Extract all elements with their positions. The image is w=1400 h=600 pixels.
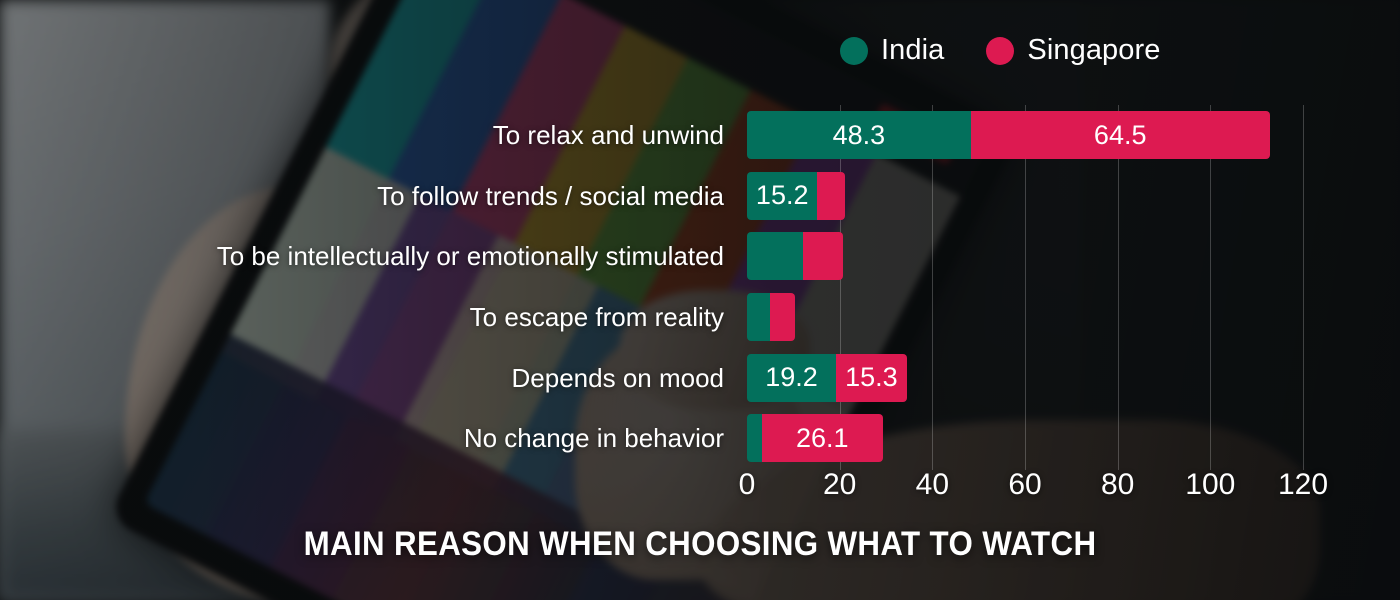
bar-segment-singapore[interactable] <box>803 232 843 280</box>
stacked-bar[interactable]: 19.215.3 <box>747 354 907 402</box>
stacked-bar[interactable] <box>747 232 843 280</box>
bar-row: 15.2 <box>747 166 1303 227</box>
x-tick-label: 0 <box>739 470 756 500</box>
legend-label-singapore: Singapore <box>1027 36 1160 65</box>
bar-segment-india[interactable] <box>747 232 803 280</box>
legend-item-singapore[interactable]: Singapore <box>986 36 1160 65</box>
category-label: No change in behavior <box>0 408 724 469</box>
bar-value-label: 64.5 <box>1094 122 1147 149</box>
bar-segment-india[interactable]: 48.3 <box>747 111 971 159</box>
category-label: Depends on mood <box>0 348 724 409</box>
stacked-bar[interactable]: 48.364.5 <box>747 111 1270 159</box>
stacked-bar[interactable]: 26.1 <box>747 414 883 462</box>
legend-swatch-singapore-icon <box>986 37 1014 65</box>
x-tick-label: 80 <box>1101 470 1134 500</box>
bar-row: 19.215.3 <box>747 348 1303 409</box>
bar-segment-singapore[interactable]: 15.3 <box>836 354 907 402</box>
bar-row <box>747 287 1303 348</box>
bar-segment-singapore[interactable] <box>770 293 795 341</box>
category-label: To relax and unwind <box>0 105 724 166</box>
legend-label-india: India <box>881 36 944 65</box>
category-axis-labels: To relax and unwindTo follow trends / so… <box>0 105 724 469</box>
legend-item-india[interactable]: India <box>840 36 944 65</box>
stacked-bar[interactable]: 15.2 <box>747 172 845 220</box>
bar-segment-india[interactable] <box>747 414 762 462</box>
bar-value-label: 19.2 <box>765 364 818 391</box>
stacked-bar[interactable] <box>747 293 795 341</box>
x-tick-label: 40 <box>916 470 949 500</box>
bar-segment-singapore[interactable]: 26.1 <box>762 414 883 462</box>
category-label: To escape from reality <box>0 287 724 348</box>
bar-segment-india[interactable]: 15.2 <box>747 172 817 220</box>
x-tick-label: 120 <box>1278 470 1328 500</box>
bar-value-label: 26.1 <box>796 425 849 452</box>
plot-area: 48.364.515.219.215.326.1 <box>747 105 1303 470</box>
bar-value-label: 15.2 <box>756 182 809 209</box>
x-axis-ticks: 020406080100120 <box>747 470 1303 510</box>
stacked-bar-chart: India Singapore To relax and unwindTo fo… <box>0 0 1400 600</box>
chart-title: MAIN REASON WHEN CHOOSING WHAT TO WATCH <box>56 525 1344 564</box>
gridline <box>1303 105 1304 470</box>
bar-value-label: 48.3 <box>833 122 886 149</box>
category-label: To be intellectually or emotionally stim… <box>0 226 724 287</box>
bar-segment-singapore[interactable]: 64.5 <box>971 111 1270 159</box>
x-tick-label: 100 <box>1185 470 1235 500</box>
bar-value-label: 15.3 <box>845 364 898 391</box>
infographic-root: India Singapore To relax and unwindTo fo… <box>0 0 1400 600</box>
x-tick-label: 60 <box>1008 470 1041 500</box>
category-label: To follow trends / social media <box>0 166 724 227</box>
bar-row: 26.1 <box>747 408 1303 469</box>
bar-segment-india[interactable] <box>747 293 770 341</box>
bar-segment-singapore[interactable] <box>817 172 844 220</box>
legend-swatch-india-icon <box>840 37 868 65</box>
bar-segment-india[interactable]: 19.2 <box>747 354 836 402</box>
chart-legend: India Singapore <box>840 36 1161 65</box>
bar-rows: 48.364.515.219.215.326.1 <box>747 105 1303 469</box>
bar-row: 48.364.5 <box>747 105 1303 166</box>
bar-row <box>747 226 1303 287</box>
x-tick-label: 20 <box>823 470 856 500</box>
